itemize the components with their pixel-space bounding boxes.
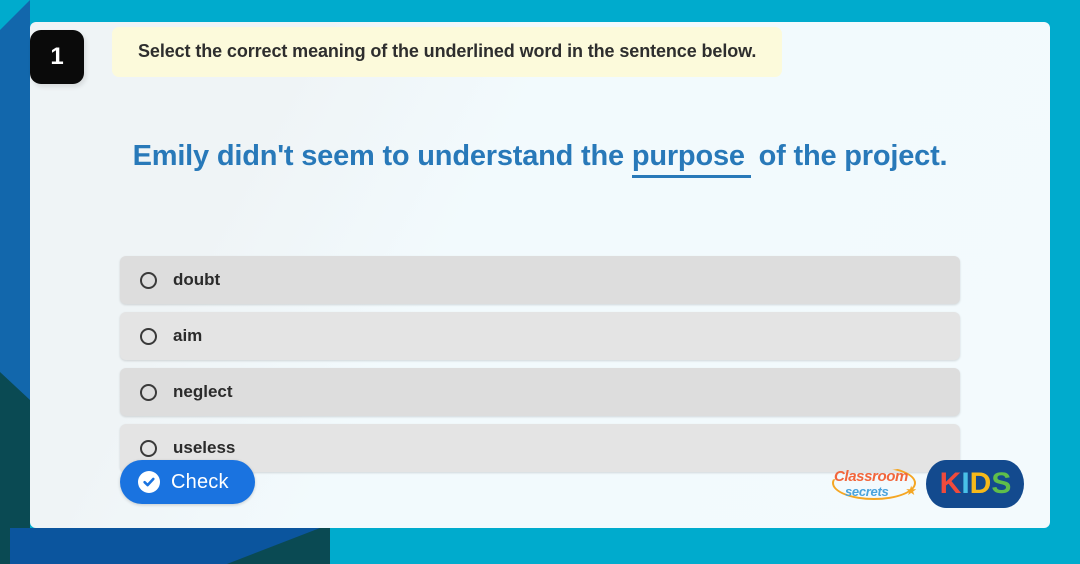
check-button-label: Check	[171, 471, 229, 494]
kids-logo: K I D S	[926, 460, 1024, 508]
check-circle-icon	[138, 471, 160, 493]
answer-option-label: aim	[173, 326, 202, 346]
kids-logo-letter-k: K	[940, 467, 961, 501]
answer-option-3[interactable]: neglect	[120, 368, 960, 416]
answer-option-1[interactable]: doubt	[120, 256, 960, 304]
classroom-secrets-line2: secrets	[845, 484, 888, 499]
answer-option-2[interactable]: aim	[120, 312, 960, 360]
radio-unchecked-icon[interactable]	[140, 328, 157, 345]
quiz-screen: 1 Select the correct meaning of the unde…	[0, 0, 1080, 564]
brand-logos: Classroom secrets ★ K I D S	[832, 454, 1024, 514]
answer-option-label: doubt	[173, 270, 220, 290]
answer-option-label: neglect	[173, 382, 233, 402]
question-number-badge: 1	[30, 30, 84, 84]
kids-logo-letter-s: S	[991, 467, 1010, 501]
classroom-secrets-line1: Classroom	[834, 468, 908, 485]
radio-unchecked-icon[interactable]	[140, 272, 157, 289]
kids-logo-letter-d: D	[970, 467, 991, 501]
sentence-text-after: of the project.	[751, 140, 948, 172]
classroom-secrets-logo: Classroom secrets ★	[832, 463, 918, 505]
decorative-left-blue-bar	[0, 0, 30, 400]
kids-logo-letter-i: I	[961, 467, 968, 501]
instruction-banner: Select the correct meaning of the underl…	[112, 27, 782, 77]
question-sentence: Emily didn't seem to understand the purp…	[30, 140, 1050, 173]
question-header: 1 Select the correct meaning of the unde…	[30, 22, 1050, 102]
sentence-underlined-word: purpose	[632, 140, 751, 178]
radio-unchecked-icon[interactable]	[140, 384, 157, 401]
question-card: 1 Select the correct meaning of the unde…	[30, 22, 1050, 528]
check-button[interactable]: Check	[120, 460, 255, 504]
star-icon: ★	[905, 483, 917, 499]
sentence-text-before: Emily didn't seem to understand the	[133, 140, 632, 172]
card-footer: Check Classroom secrets ★ K I D S	[30, 454, 1050, 518]
answer-options-list: doubt aim neglect useless	[120, 256, 960, 480]
